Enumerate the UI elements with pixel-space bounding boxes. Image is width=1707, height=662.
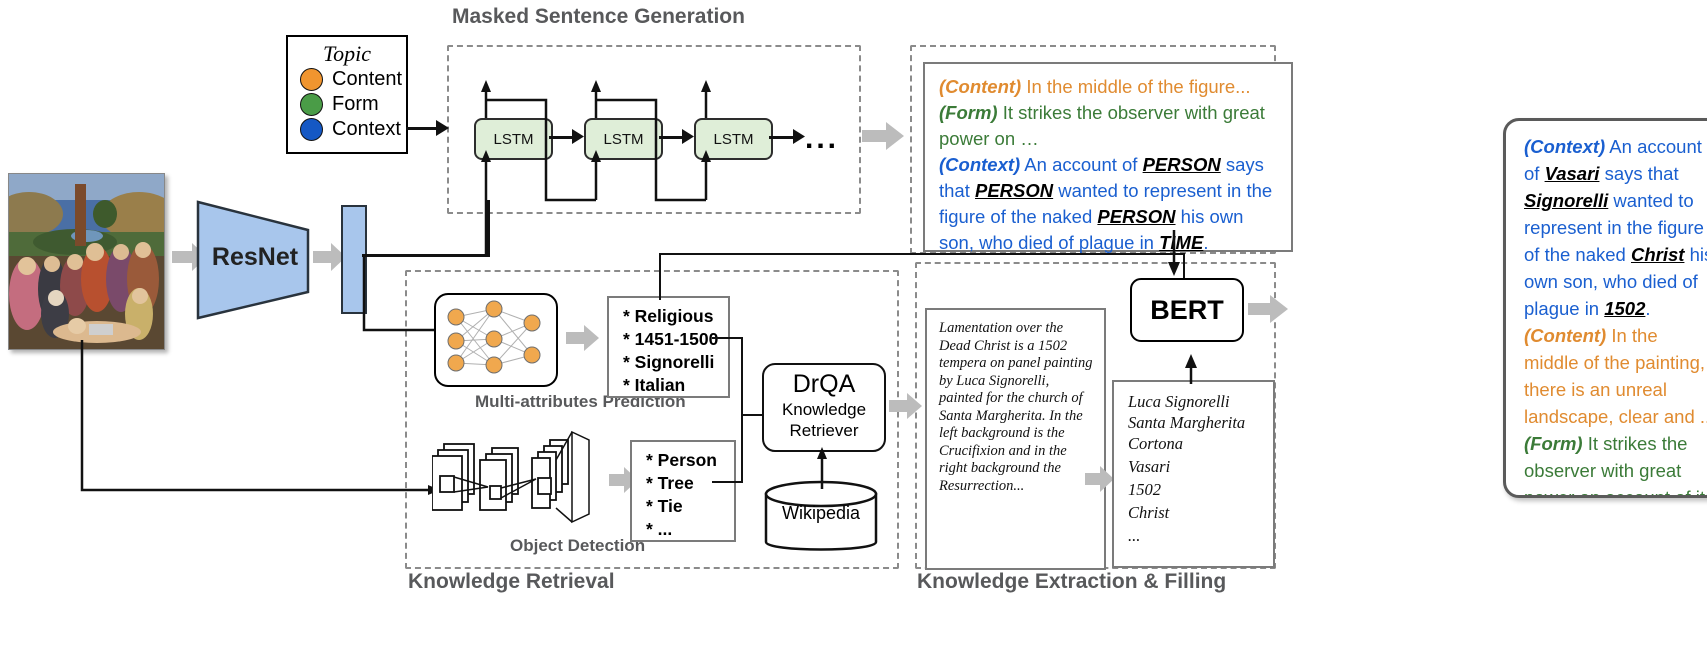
filled-entity-signorelli: Signorelli xyxy=(1524,190,1608,211)
legend-title: Topic xyxy=(288,37,406,67)
section-title-masked-sentence-generation: Masked Sentence Generation xyxy=(452,5,745,29)
drqa-title: DrQA xyxy=(764,370,884,399)
arrow-bert-to-output xyxy=(1248,295,1290,328)
drqa-subtitle-line1: Knowledge xyxy=(764,399,884,420)
output-label-context: (Context) xyxy=(1524,136,1605,157)
retrieved-passage-box: Lamentation over the Dead Christ is a 15… xyxy=(925,308,1106,570)
bert-label: BERT xyxy=(1150,295,1224,326)
diagram-canvas: Masked Sentence Generation Knowledge Ret… xyxy=(0,0,1707,662)
legend-label-content: Content xyxy=(332,68,402,91)
masked-text-context-5: . xyxy=(1203,232,1208,253)
masked-text-context-1: An account of xyxy=(1020,154,1142,175)
masked-text-content: In the middle of the figure... xyxy=(1021,76,1250,97)
object-item: * ... xyxy=(646,518,734,541)
retrieved-passage-text: Lamentation over the Dead Christ is a 15… xyxy=(939,320,1092,494)
connector-entities-to-bert xyxy=(1178,352,1204,389)
drqa-knowledge-retriever: DrQA Knowledge Retriever xyxy=(762,363,886,452)
extracted-entities-box: Luca Signorelli Santa Margherita Cortona… xyxy=(1112,380,1275,568)
output-label-form: (Form) xyxy=(1524,433,1583,454)
entity-item: Luca Signorelli xyxy=(1128,390,1273,413)
entity-item: Christ xyxy=(1128,501,1273,524)
legend-item-form: Form xyxy=(288,92,406,117)
bert-block: BERT xyxy=(1130,278,1244,342)
entity-item: Cortona xyxy=(1128,432,1273,455)
section-title-knowledge-extraction-filling: Knowledge Extraction & Filling xyxy=(917,570,1226,594)
wikipedia-label: Wikipedia xyxy=(760,503,882,524)
filled-entity-1502: 1502 xyxy=(1604,298,1645,319)
arrow-passage-to-entities xyxy=(1085,466,1115,497)
legend-item-context: Context xyxy=(288,117,406,142)
mask-token-person-2: PERSON xyxy=(975,180,1053,201)
legend-dot-context-icon xyxy=(300,118,323,141)
filled-entity-vasari: Vasari xyxy=(1545,163,1600,184)
masked-label-content: (Content) xyxy=(939,76,1021,97)
output-text-context-5: . xyxy=(1645,298,1650,319)
masked-label-form: (Form) xyxy=(939,102,998,123)
entity-item: Vasari xyxy=(1128,455,1273,478)
mask-token-person-1: PERSON xyxy=(1143,154,1221,175)
legend-dot-content-icon xyxy=(300,68,323,91)
arrow-drqa-to-passage xyxy=(889,393,923,424)
drqa-subtitle-line2: Retriever xyxy=(764,420,884,441)
filled-entity-christ: Christ xyxy=(1631,244,1684,265)
arrow-lstm-to-masked-sentence xyxy=(862,122,906,155)
input-painting-image xyxy=(8,173,165,350)
label-object-detection: Object Detection xyxy=(510,536,645,556)
final-output-box: (Context) An account of Vasari says that… xyxy=(1503,118,1707,498)
legend-dot-form-icon xyxy=(300,93,323,116)
entity-item: Santa Margherita xyxy=(1128,413,1273,432)
connector-wikipedia-to-drqa xyxy=(815,445,829,494)
object-detection-cnn-block xyxy=(432,430,597,540)
output-text-context-2: says that xyxy=(1599,163,1678,184)
output-label-content: (Content) xyxy=(1524,325,1606,346)
legend-label-form: Form xyxy=(332,93,379,116)
arrow-mlp-to-attributes xyxy=(566,325,600,356)
connector-feature-to-lstm-v xyxy=(487,200,490,256)
legend-item-content: Content xyxy=(288,67,406,92)
entity-item: 1502 xyxy=(1128,478,1273,501)
connector-image-to-object-detection xyxy=(78,330,458,505)
legend-label-context: Context xyxy=(332,118,401,141)
entity-item: ... xyxy=(1128,524,1273,547)
section-title-knowledge-retrieval: Knowledge Retrieval xyxy=(408,570,615,594)
masked-label-context: (Context) xyxy=(939,154,1020,175)
lstm-recurrent-wiring xyxy=(448,80,868,260)
mask-token-person-3: PERSON xyxy=(1097,206,1175,227)
mlp-network-block xyxy=(434,293,558,387)
resnet-label: ResNet xyxy=(205,243,305,272)
legend-topic: Topic Content Form Context xyxy=(286,35,408,154)
masked-sentence-box: (Content) In the middle of the figure...… xyxy=(923,62,1293,252)
